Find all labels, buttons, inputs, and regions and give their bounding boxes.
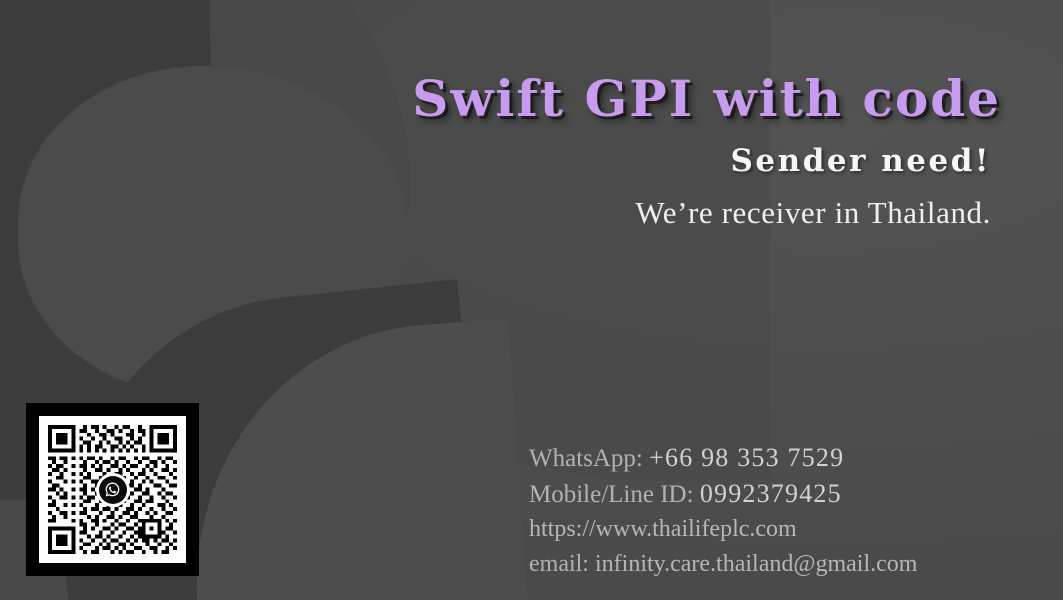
website-url[interactable]: https://www.thailifeplc.com xyxy=(529,516,797,542)
page-title: Swift GPI with code xyxy=(241,72,1001,125)
whatsapp-number[interactable]: +66 98 353 7529 xyxy=(649,443,844,472)
contact-row-mobile: Mobile/Line ID: 0992379425 xyxy=(529,476,917,512)
qr-code-quiet-zone xyxy=(39,416,186,563)
contact-row-email: email: infinity.care.thailand@gmail.com xyxy=(529,547,917,582)
mobile-line-label: Mobile/Line ID: xyxy=(529,481,694,508)
contact-row-whatsapp: WhatsApp: +66 98 353 7529 xyxy=(529,440,917,476)
contact-block: WhatsApp: +66 98 353 7529 Mobile/Line ID… xyxy=(529,440,917,582)
headline-subtitle: Sender need! xyxy=(241,143,991,179)
contact-row-website[interactable]: https://www.thailifeplc.com xyxy=(529,512,917,547)
email-label: email: xyxy=(529,551,589,577)
headline-tagline: We’re receiver in Thailand. xyxy=(241,195,991,231)
whatsapp-qr-code[interactable] xyxy=(26,403,199,576)
whatsapp-icon-disc xyxy=(99,476,127,504)
headline-block: Swift GPI with code Sender need! We’re r… xyxy=(241,72,1001,231)
whatsapp-label: WhatsApp: xyxy=(529,445,643,472)
mobile-line-number[interactable]: 0992379425 xyxy=(700,479,842,508)
email-address[interactable]: infinity.care.thailand@gmail.com xyxy=(595,551,917,577)
business-card: Swift GPI with code Sender need! We’re r… xyxy=(0,0,1063,600)
whatsapp-icon xyxy=(96,473,130,507)
